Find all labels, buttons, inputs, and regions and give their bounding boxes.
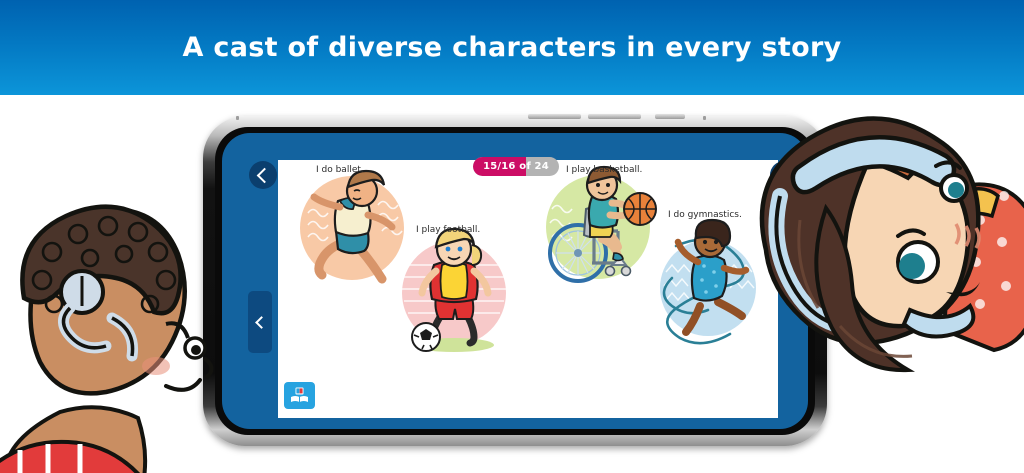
football-artwork <box>388 225 523 365</box>
antenna-line-left <box>236 116 239 120</box>
previous-page-button[interactable] <box>249 161 277 189</box>
reader-page: I do ballet. <box>278 160 778 418</box>
illustration-football: I play football. <box>388 225 523 375</box>
power-button[interactable] <box>655 114 685 119</box>
phone-screen: I do ballet. <box>222 133 808 429</box>
chevron-left-icon <box>257 167 273 183</box>
book-button[interactable] <box>284 382 315 409</box>
girl-with-headband-illustration <box>740 100 1024 440</box>
open-book-icon <box>290 387 309 404</box>
antenna-line-right <box>703 116 706 120</box>
previous-page-tab[interactable] <box>248 291 272 353</box>
page-root: A cast of diverse characters in every st… <box>0 0 1024 473</box>
caption-football: I play football. <box>416 225 480 235</box>
phone-frame: I do ballet. <box>203 116 827 446</box>
volume-down-button[interactable] <box>588 114 641 119</box>
caption-basketball: I play basketball. <box>566 165 642 175</box>
chevron-left-icon <box>255 316 268 329</box>
character-boy-left <box>0 200 250 473</box>
character-girl-right <box>740 100 1024 440</box>
page-progress-bar[interactable]: 15/16 of 24 <box>473 157 559 176</box>
phone-bezel: I do ballet. <box>215 127 815 435</box>
page-title: A cast of diverse characters in every st… <box>183 32 842 63</box>
volume-up-button[interactable] <box>528 114 581 119</box>
boy-with-hearing-aid-illustration <box>0 200 250 473</box>
progress-label: 15/16 of 24 <box>473 157 559 176</box>
header-banner: A cast of diverse characters in every st… <box>0 0 1024 95</box>
caption-ballet: I do ballet. <box>316 165 364 175</box>
caption-gymnastics: I do gymnastics. <box>668 210 742 220</box>
